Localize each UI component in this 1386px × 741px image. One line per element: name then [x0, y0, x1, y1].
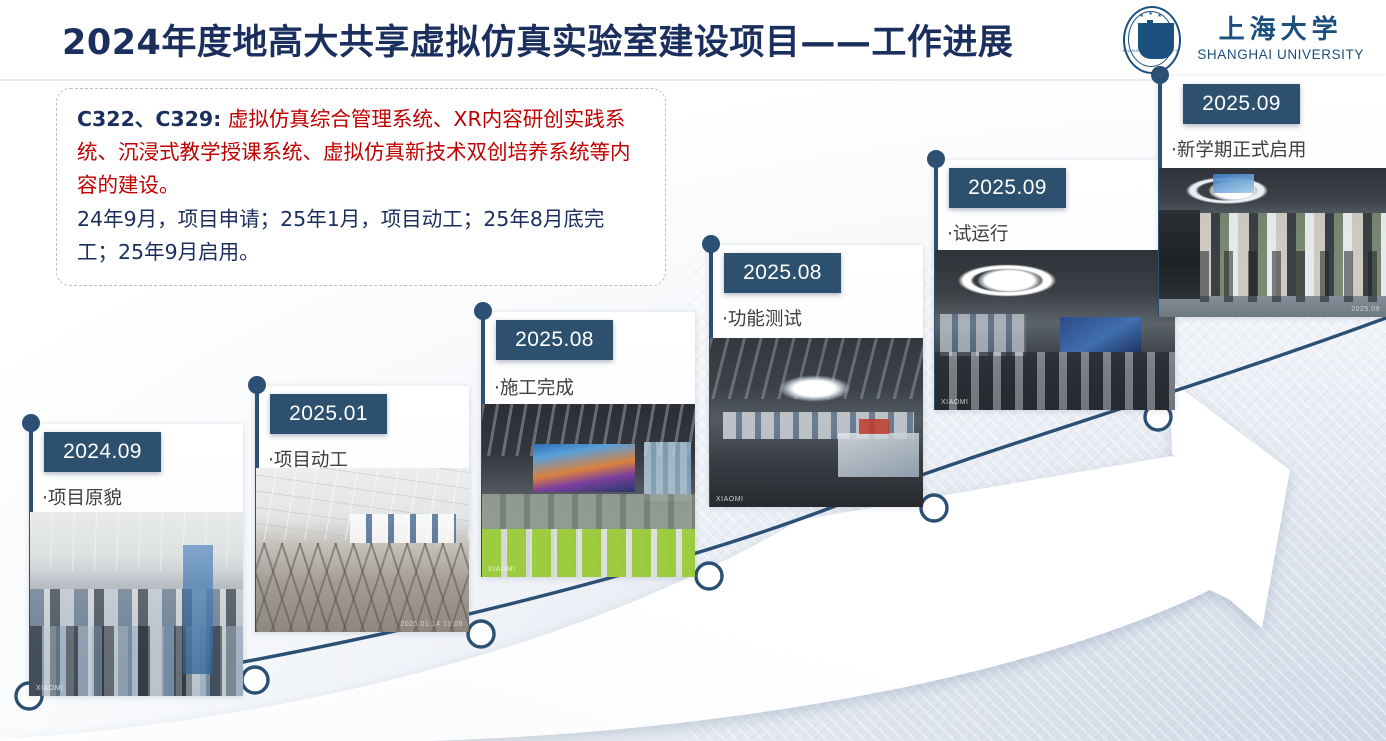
- milestone-caption-1: ·项目原貌: [42, 484, 122, 510]
- milestone-caption-4: ·功能测试: [722, 305, 802, 331]
- timeline-node: [921, 495, 947, 521]
- photo-trial-run-seminar: XIAOMI: [935, 250, 1175, 410]
- photo-watermark: 2025.09: [1351, 306, 1380, 313]
- milestone-card-5[interactable]: 2025.09 ·试运行 XIAOMI: [934, 160, 1175, 410]
- photo-timestamp: 2025.01.14 13:05: [401, 621, 464, 628]
- milestone-date-badge-4: 2025.08: [724, 253, 841, 293]
- photo-function-testing-lab: XIAOMI: [710, 338, 923, 507]
- photo-watermark: XIAOMI: [941, 399, 969, 406]
- slide-root: 2024年度地高大共享虚拟仿真实验室建设项目——工作进展 ★ ★ ★ SHANG…: [0, 0, 1386, 741]
- timeline-node: [242, 667, 268, 693]
- milestone-date-badge-1: 2024.09: [44, 432, 161, 472]
- milestone-card-6[interactable]: 2025.09 ·新学期正式启用 2025.09: [1158, 76, 1386, 317]
- timeline-node: [696, 563, 722, 589]
- timeline-node: [468, 621, 494, 647]
- callout-main-line: C322、C329: 虚拟仿真综合管理系统、XR内容研创实践系统、沉浸式教学授课…: [77, 103, 645, 203]
- milestone-date-badge-2: 2025.01: [270, 394, 387, 434]
- callout-box: C322、C329: 虚拟仿真综合管理系统、XR内容研创实践系统、沉浸式教学授课…: [56, 88, 666, 286]
- milestone-card-3[interactable]: 2025.08 ·施工完成 XIAOMI: [481, 312, 695, 577]
- photo-watermark: XIAOMI: [716, 496, 744, 503]
- milestone-card-2[interactable]: 2025.01 ·项目动工 2025.01.14 13:05: [255, 386, 469, 632]
- milestone-date-badge-3: 2025.08: [496, 320, 613, 360]
- photo-finished-lecture-hall-led-screen: XIAOMI: [482, 404, 695, 577]
- photo-watermark: XIAOMI: [488, 566, 516, 573]
- milestone-date-badge-6: 2025.09: [1183, 84, 1300, 124]
- callout-label: C322、C329:: [77, 107, 221, 131]
- photo-watermark: XIAOMI: [36, 685, 64, 692]
- callout-schedule: 24年9月，项目申请；25年1月，项目动工；25年8月底完工；25年9月启用。: [77, 203, 645, 269]
- milestone-card-1[interactable]: 2024.09 ·项目原貌 XIAOMI: [29, 424, 243, 696]
- milestone-caption-3: ·施工完成: [494, 374, 574, 400]
- milestone-date-badge-5: 2025.09: [949, 168, 1066, 208]
- photo-construction-start-empty-room: 2025.01.14 13:05: [256, 468, 469, 632]
- photo-original-computer-lab: XIAOMI: [30, 512, 243, 696]
- milestone-caption-6: ·新学期正式启用: [1171, 136, 1306, 162]
- milestone-card-4[interactable]: 2025.08 ·功能测试 XIAOMI: [709, 245, 923, 507]
- milestone-caption-5: ·试运行: [947, 220, 1008, 246]
- photo-new-semester-class-in-session: 2025.09: [1159, 168, 1386, 317]
